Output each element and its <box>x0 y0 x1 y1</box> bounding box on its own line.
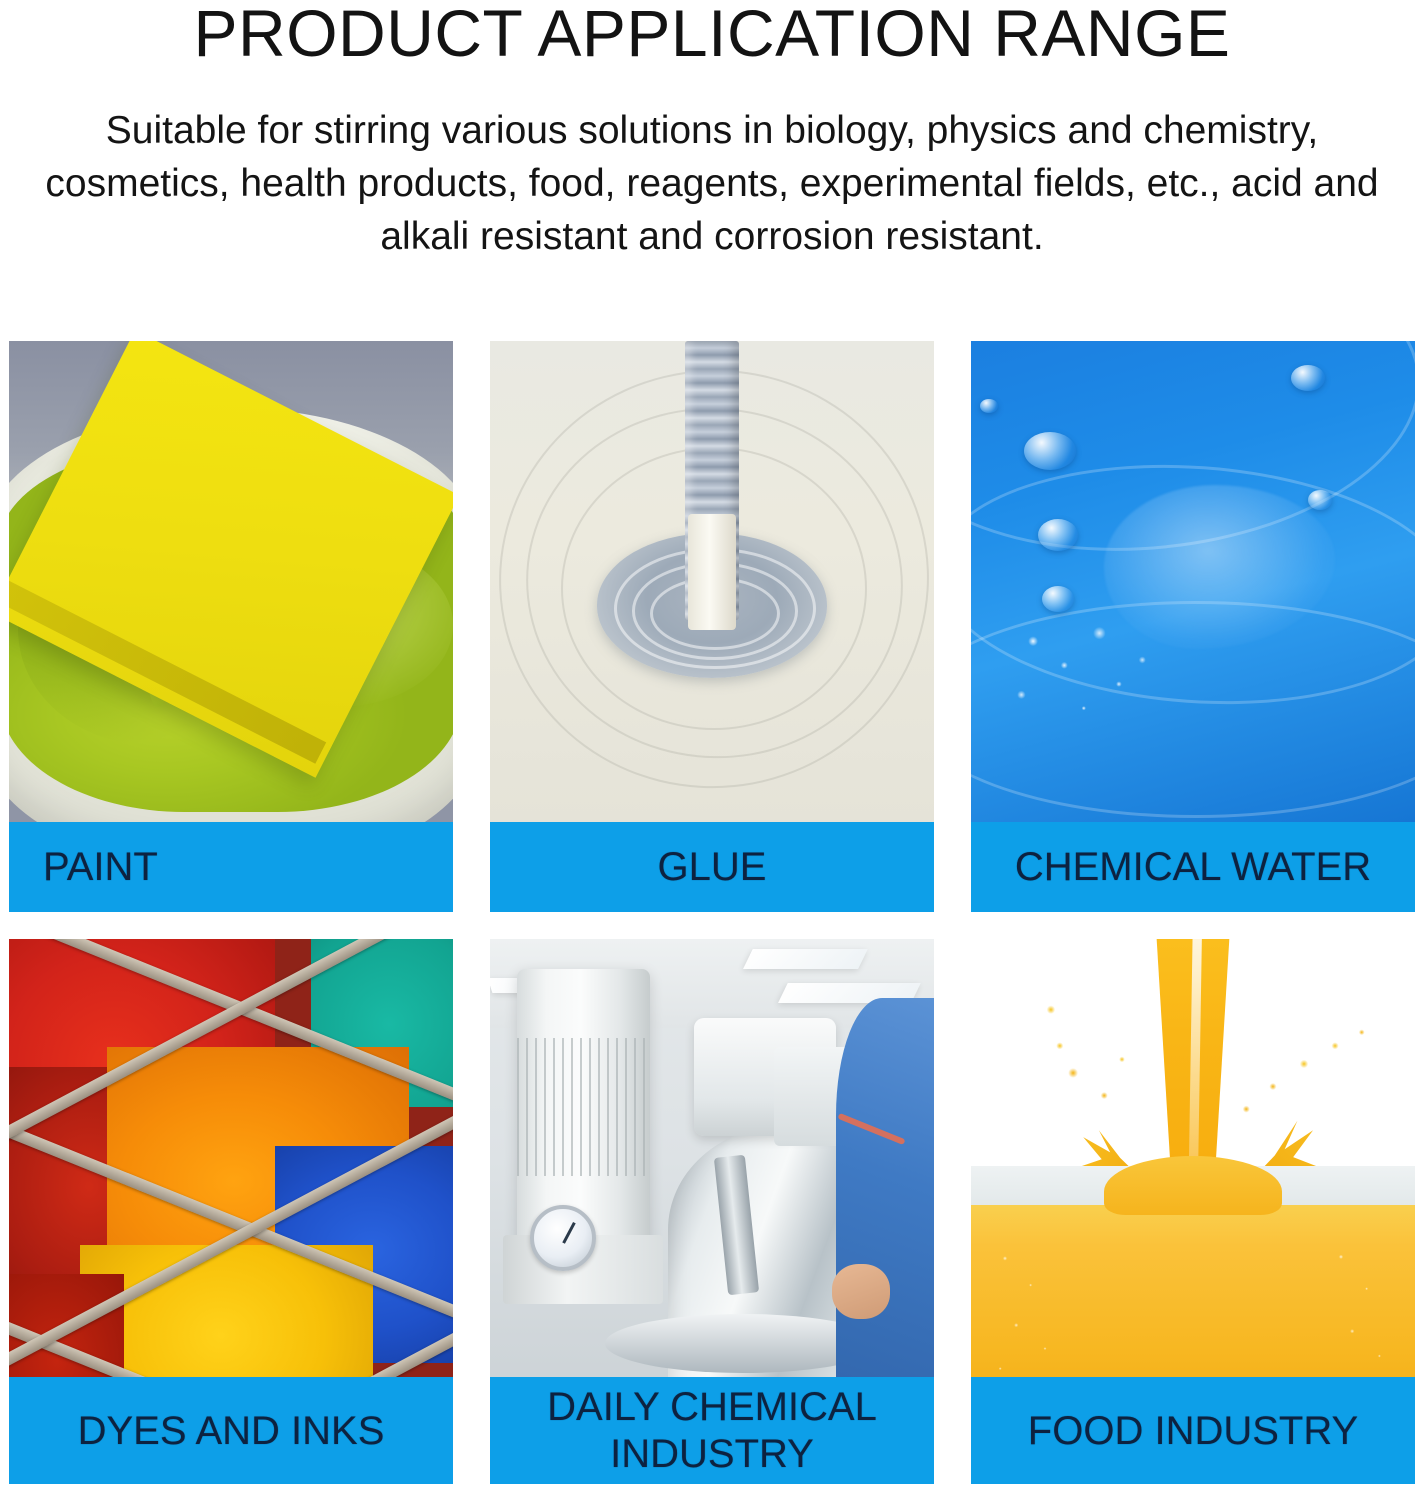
panel-row-top: PAINT GLUE <box>0 341 1424 939</box>
worker-hand <box>832 1264 890 1318</box>
worker-in-blue-gown <box>836 998 934 1432</box>
panel-label-glue: GLUE <box>490 822 934 912</box>
industry-artwork <box>490 939 934 1432</box>
ceiling-lamp-icon <box>743 949 868 969</box>
page-header: PRODUCT APPLICATION RANGE Suitable for s… <box>0 0 1424 263</box>
page-title: PRODUCT APPLICATION RANGE <box>0 0 1424 64</box>
motor-cooling-fins <box>517 1038 650 1176</box>
colored-pigment-powder-piles-image <box>9 939 453 1432</box>
panel-chemical-water[interactable]: CHEMICAL WATER <box>971 341 1415 912</box>
juice-bubbles-right <box>1317 1225 1397 1402</box>
orange-juice-pouring-into-glass-image <box>971 939 1415 1432</box>
panel-label-chemical-water: CHEMICAL WATER <box>971 822 1415 912</box>
panel-label-text: GLUE <box>658 845 767 889</box>
panel-label-text: CHEMICAL WATER <box>1015 845 1371 889</box>
panel-daily-chemical-industry[interactable]: DAILY CHEMICAL INDUSTRY <box>490 939 934 1484</box>
panel-label-dyes-and-inks: DYES AND INKS <box>9 1377 453 1484</box>
panel-label-text: PAINT <box>43 845 158 889</box>
panel-label-food-industry: FOOD INDUSTRY <box>971 1377 1415 1484</box>
white-glue-mixer-shaft-image <box>490 341 934 822</box>
water-artwork <box>971 341 1415 822</box>
panel-label-text: FOOD INDUSTRY <box>1028 1409 1358 1453</box>
panel-paint[interactable]: PAINT <box>9 341 453 912</box>
water-bubble <box>1291 365 1325 391</box>
panel-label-daily-chemical-industry: DAILY CHEMICAL INDUSTRY <box>490 1377 934 1484</box>
panel-food-industry[interactable]: FOOD INDUSTRY <box>971 939 1415 1484</box>
panel-label-text-line-1: DAILY CHEMICAL <box>547 1384 877 1431</box>
panel-row-bottom: DYES AND INKS <box>0 939 1424 1499</box>
paint-bucket-with-yellow-paddle-image <box>9 341 453 822</box>
glue-artwork <box>490 341 934 822</box>
page-subtitle: Suitable for stirring various solutions … <box>0 64 1424 263</box>
industrial-mixing-reactor-machinery-image <box>490 939 934 1432</box>
food-artwork <box>971 939 1415 1432</box>
application-panel-grid: PAINT GLUE <box>0 341 1424 1499</box>
water-bubble <box>1038 519 1078 551</box>
paint-artwork <box>9 341 453 822</box>
panel-label-text: DYES AND INKS <box>78 1409 385 1453</box>
panel-label-paint: PAINT <box>9 822 453 912</box>
glue-coated-shaft <box>688 514 737 629</box>
panel-label-text-line-2: INDUSTRY <box>610 1431 814 1478</box>
water-bubble <box>980 399 998 413</box>
panel-dyes-and-inks[interactable]: DYES AND INKS <box>9 939 453 1484</box>
panel-glue[interactable]: GLUE <box>490 341 934 912</box>
water-foam-bubbles <box>998 601 1193 736</box>
dyes-artwork <box>9 939 453 1432</box>
pressure-gauge-icon <box>530 1205 596 1271</box>
blue-water-bubbles-splash-image <box>971 341 1415 822</box>
